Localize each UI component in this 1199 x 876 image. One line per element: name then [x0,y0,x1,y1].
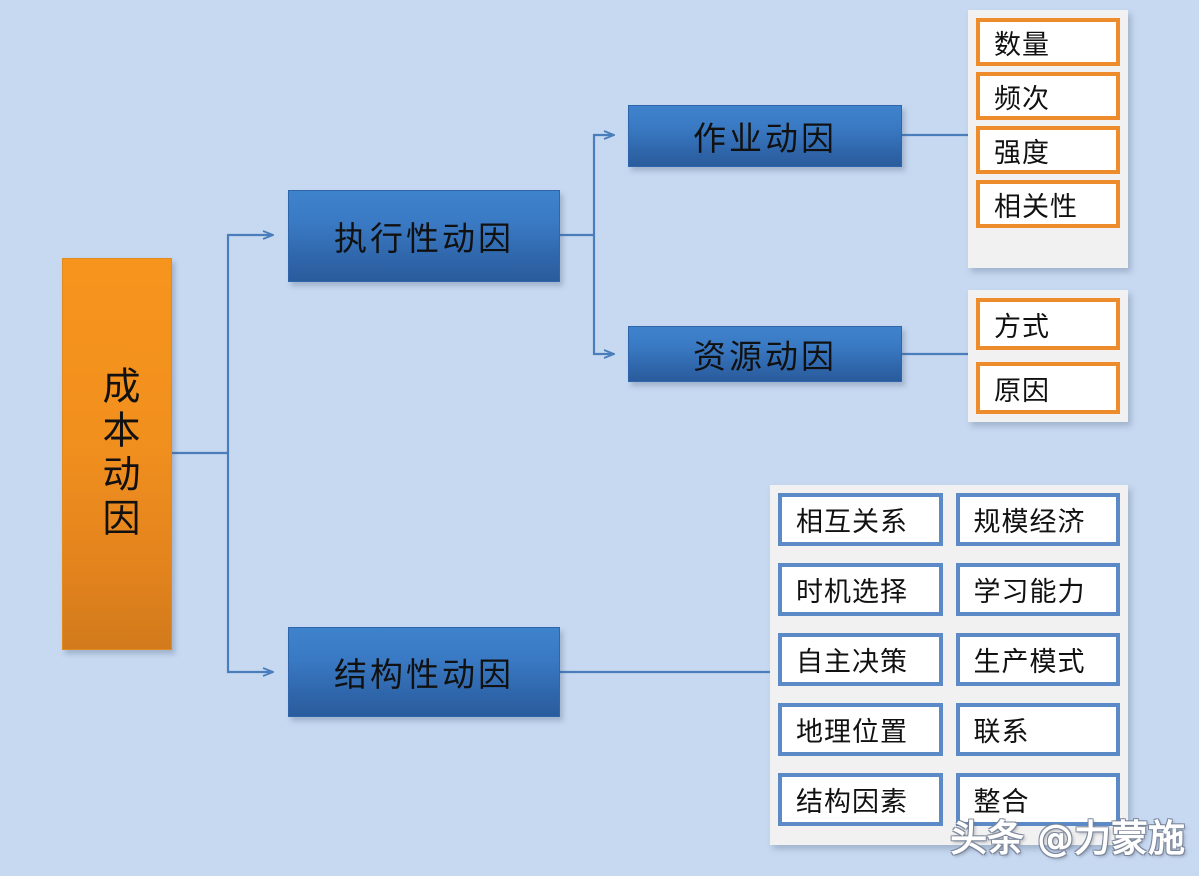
connector-executional-to-resource [594,235,613,354]
root-node-cost-drivers[interactable]: 成本动因 [62,258,172,650]
leaf-item[interactable]: 时机选择 [778,563,943,616]
structural-leaf-column-left: 相互关系 时机选择 自主决策 地理位置 结构因素 [778,493,943,837]
leaf-item[interactable]: 地理位置 [778,703,943,756]
node-executional-driver[interactable]: 执行性动因 [288,190,560,282]
leaf-item[interactable]: 整合 [956,773,1121,826]
connector-root-to-executional [228,235,272,453]
panel-structural-driver-leaves: 相互关系 时机选择 自主决策 地理位置 结构因素 规模经济 学习能力 生产模式 … [770,485,1128,845]
leaf-item[interactable]: 相互关系 [778,493,943,546]
leaf-item[interactable]: 频次 [976,72,1120,120]
leaf-item[interactable]: 学习能力 [956,563,1121,616]
leaf-item[interactable]: 强度 [976,126,1120,174]
connector-root-to-structural [228,453,272,672]
node-structural-driver-label: 结构性动因 [334,648,514,696]
structural-leaf-column-right: 规模经济 学习能力 生产模式 联系 整合 [956,493,1121,837]
leaf-item[interactable]: 联系 [956,703,1121,756]
panel-resource-driver-leaves: 方式 原因 [968,290,1128,422]
leaf-item[interactable]: 生产模式 [956,633,1121,686]
leaf-item[interactable]: 结构因素 [778,773,943,826]
leaf-item[interactable]: 方式 [976,298,1120,350]
node-structural-driver[interactable]: 结构性动因 [288,627,560,717]
leaf-item[interactable]: 数量 [976,18,1120,66]
leaf-item[interactable]: 自主决策 [778,633,943,686]
node-resource-driver-label: 资源动因 [693,330,837,378]
diagram-canvas: 成本动因 执行性动因 结构性动因 作业动因 资源动因 数量 频次 强度 相关性 … [0,0,1199,876]
node-activity-driver[interactable]: 作业动因 [628,105,902,167]
leaf-item[interactable]: 规模经济 [956,493,1121,546]
connector-executional-to-activity [594,135,613,235]
leaf-item[interactable]: 原因 [976,362,1120,414]
node-resource-driver[interactable]: 资源动因 [628,326,902,382]
leaf-item[interactable]: 相关性 [976,180,1120,228]
panel-activity-driver-leaves: 数量 频次 强度 相关性 [968,10,1128,268]
root-node-label: 成本动因 [98,366,136,542]
node-activity-driver-label: 作业动因 [693,112,837,160]
node-executional-driver-label: 执行性动因 [334,212,514,260]
